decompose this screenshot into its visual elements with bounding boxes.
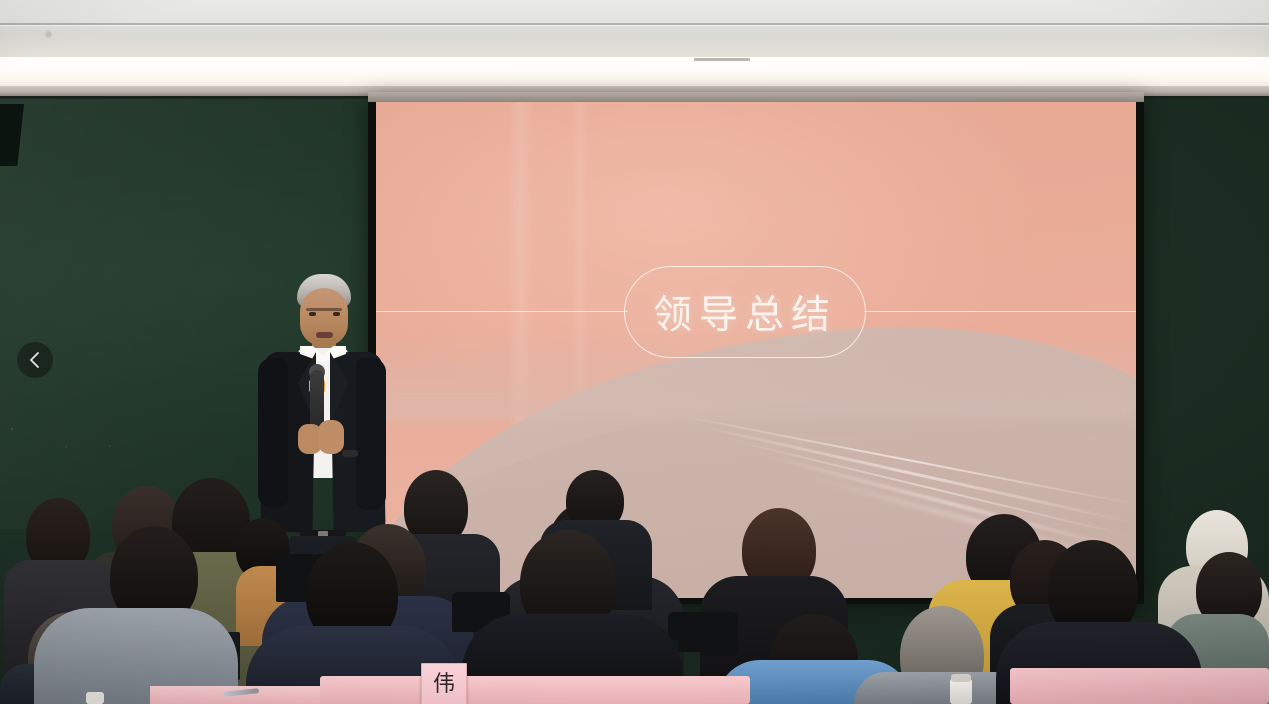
water-bottle-cap bbox=[951, 674, 971, 682]
chair-back bbox=[668, 612, 738, 652]
photo-viewer: 领导总结 bbox=[0, 0, 1269, 704]
water-bottle bbox=[86, 692, 104, 704]
chevron-left-icon bbox=[28, 351, 42, 369]
name-placard-text: 伟 bbox=[433, 674, 455, 696]
name-placard: 伟 bbox=[421, 663, 467, 704]
conference-table bbox=[320, 676, 750, 704]
prev-image-button[interactable] bbox=[17, 342, 53, 378]
audience: 伟 bbox=[0, 0, 1269, 704]
conference-table bbox=[1010, 668, 1269, 704]
